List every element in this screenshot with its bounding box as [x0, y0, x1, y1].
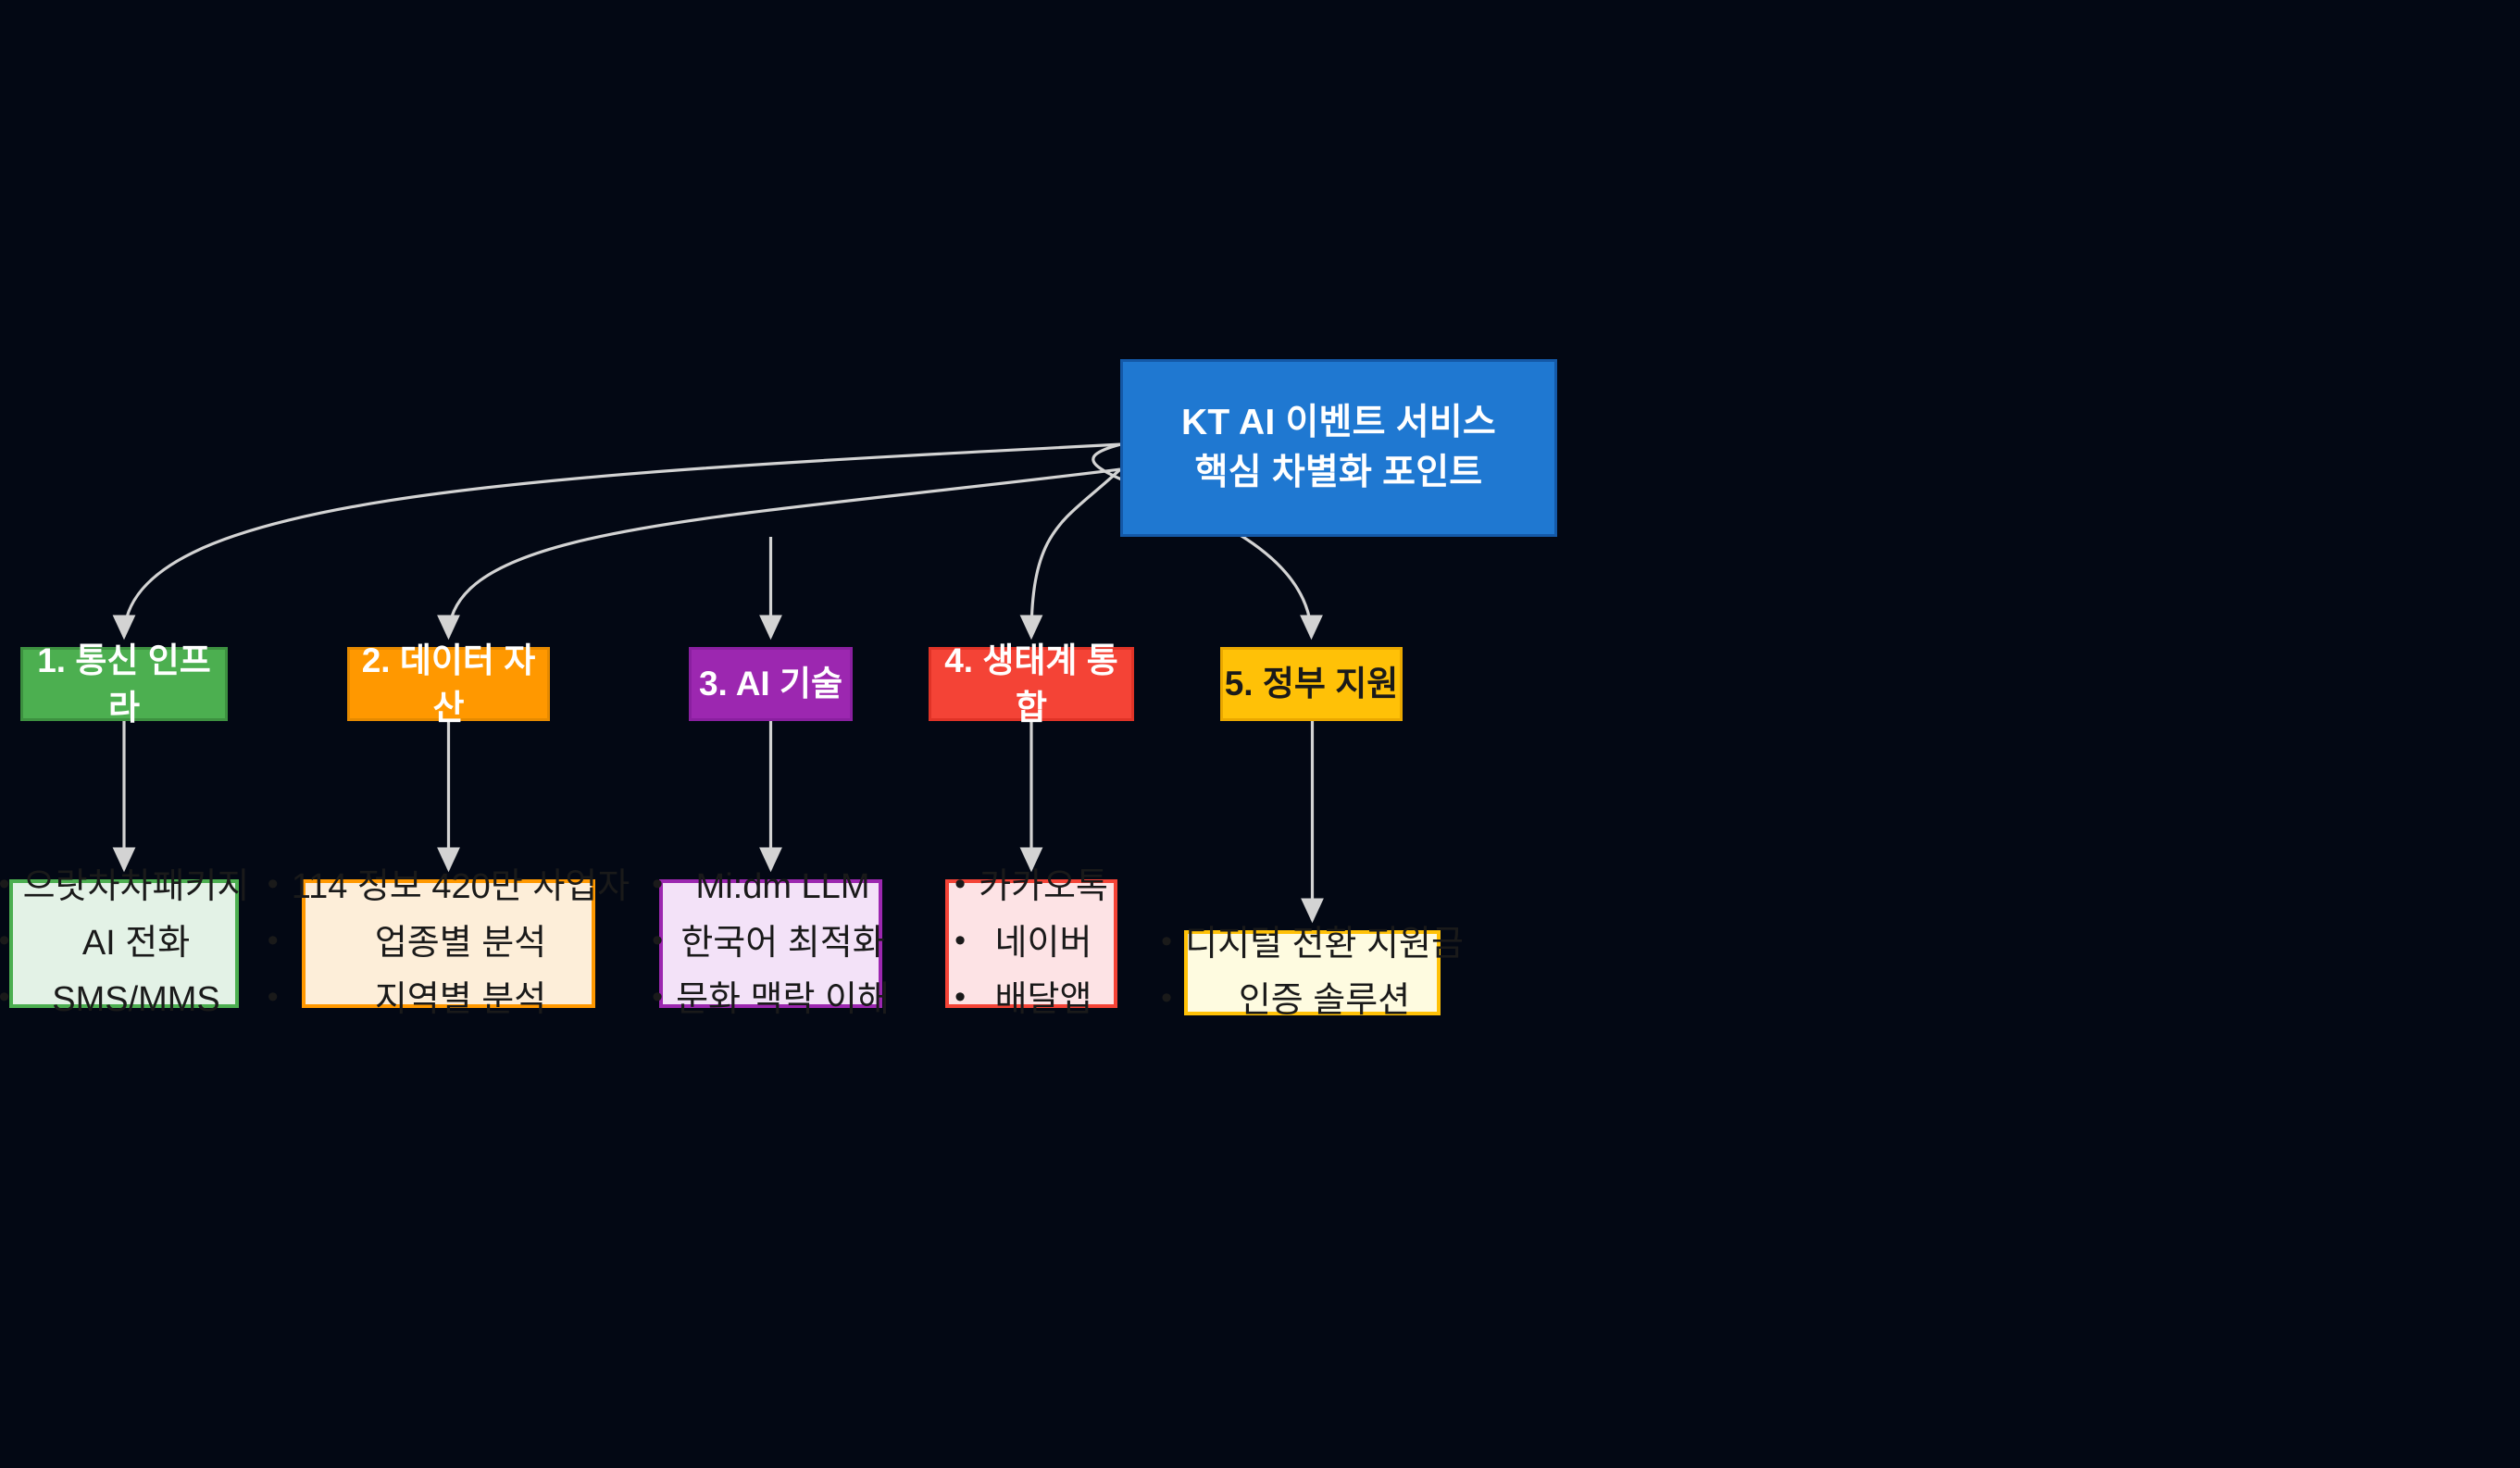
category-node-3-label: 3. AI 기술: [699, 660, 842, 707]
detail-item: 네이버: [954, 922, 1108, 965]
detail-list-4: 카카오톡네이버배달앱: [954, 865, 1108, 1022]
category-node-1-label: 1. 통신 인프라: [23, 637, 225, 731]
detail-item: 지역별 분석: [268, 978, 630, 1022]
detail-node-5[interactable]: 디지털 전환 지원금인증 솔루션: [1184, 930, 1441, 1015]
detail-list-2: 114 정보 420만 사업자업종별 분석지역별 분석: [268, 865, 630, 1022]
detail-list-3: Mi:dm LLM한국어 최적화문화 맥락 이해: [652, 865, 890, 1022]
category-node-4[interactable]: 4. 생태계 통합: [929, 647, 1134, 721]
flowchart-canvas: KT AI 이벤트 서비스 핵심 차별화 포인트 1. 통신 인프라 2. 데이…: [0, 0, 2520, 1468]
category-node-5-label: 5. 정부 지원: [1225, 660, 1399, 707]
category-node-4-label: 4. 생태계 통합: [931, 637, 1131, 731]
detail-list-5: 디지털 전환 지원금인증 솔루션: [1161, 923, 1464, 1023]
edge: [449, 469, 1121, 637]
category-node-2[interactable]: 2. 데이터 자산: [347, 647, 550, 721]
root-node-label: KT AI 이벤트 서비스 핵심 차별화 포인트: [1181, 398, 1496, 498]
detail-item: 한국어 최적화: [652, 922, 890, 965]
detail-node-3[interactable]: Mi:dm LLM한국어 최적화문화 맥락 이해: [659, 879, 882, 1008]
category-node-3[interactable]: 3. AI 기술: [689, 647, 853, 721]
category-node-1[interactable]: 1. 통신 인프라: [20, 647, 228, 721]
detail-node-2[interactable]: 114 정보 420만 사업자업종별 분석지역별 분석: [302, 879, 595, 1008]
edge: [124, 444, 1120, 637]
detail-item: 카카오톡: [954, 865, 1108, 909]
detail-item: 디지털 전환 지원금: [1161, 923, 1464, 966]
detail-item: Mi:dm LLM: [652, 865, 890, 909]
detail-item: 114 정보 420만 사업자: [268, 865, 630, 909]
root-node[interactable]: KT AI 이벤트 서비스 핵심 차별화 포인트: [1120, 359, 1557, 537]
detail-item: 업종별 분석: [268, 922, 630, 965]
detail-list-1: 으랏차차패키지AI 전화SMS/MMS: [0, 865, 249, 1022]
detail-item: 인증 솔루션: [1161, 979, 1464, 1023]
detail-item: AI 전화: [0, 922, 249, 965]
detail-node-4[interactable]: 카카오톡네이버배달앱: [945, 879, 1117, 1008]
detail-node-1[interactable]: 으랏차차패키지AI 전화SMS/MMS: [9, 879, 239, 1008]
detail-item: 배달앱: [954, 978, 1108, 1022]
edge-layer: [0, 0, 2520, 1468]
edge: [1031, 469, 1120, 637]
category-node-5[interactable]: 5. 정부 지원: [1220, 647, 1403, 721]
detail-item: 문화 맥락 이해: [652, 978, 890, 1022]
detail-item: SMS/MMS: [0, 978, 249, 1022]
detail-item: 으랏차차패키지: [0, 865, 249, 909]
category-node-2-label: 2. 데이터 자산: [350, 637, 547, 731]
